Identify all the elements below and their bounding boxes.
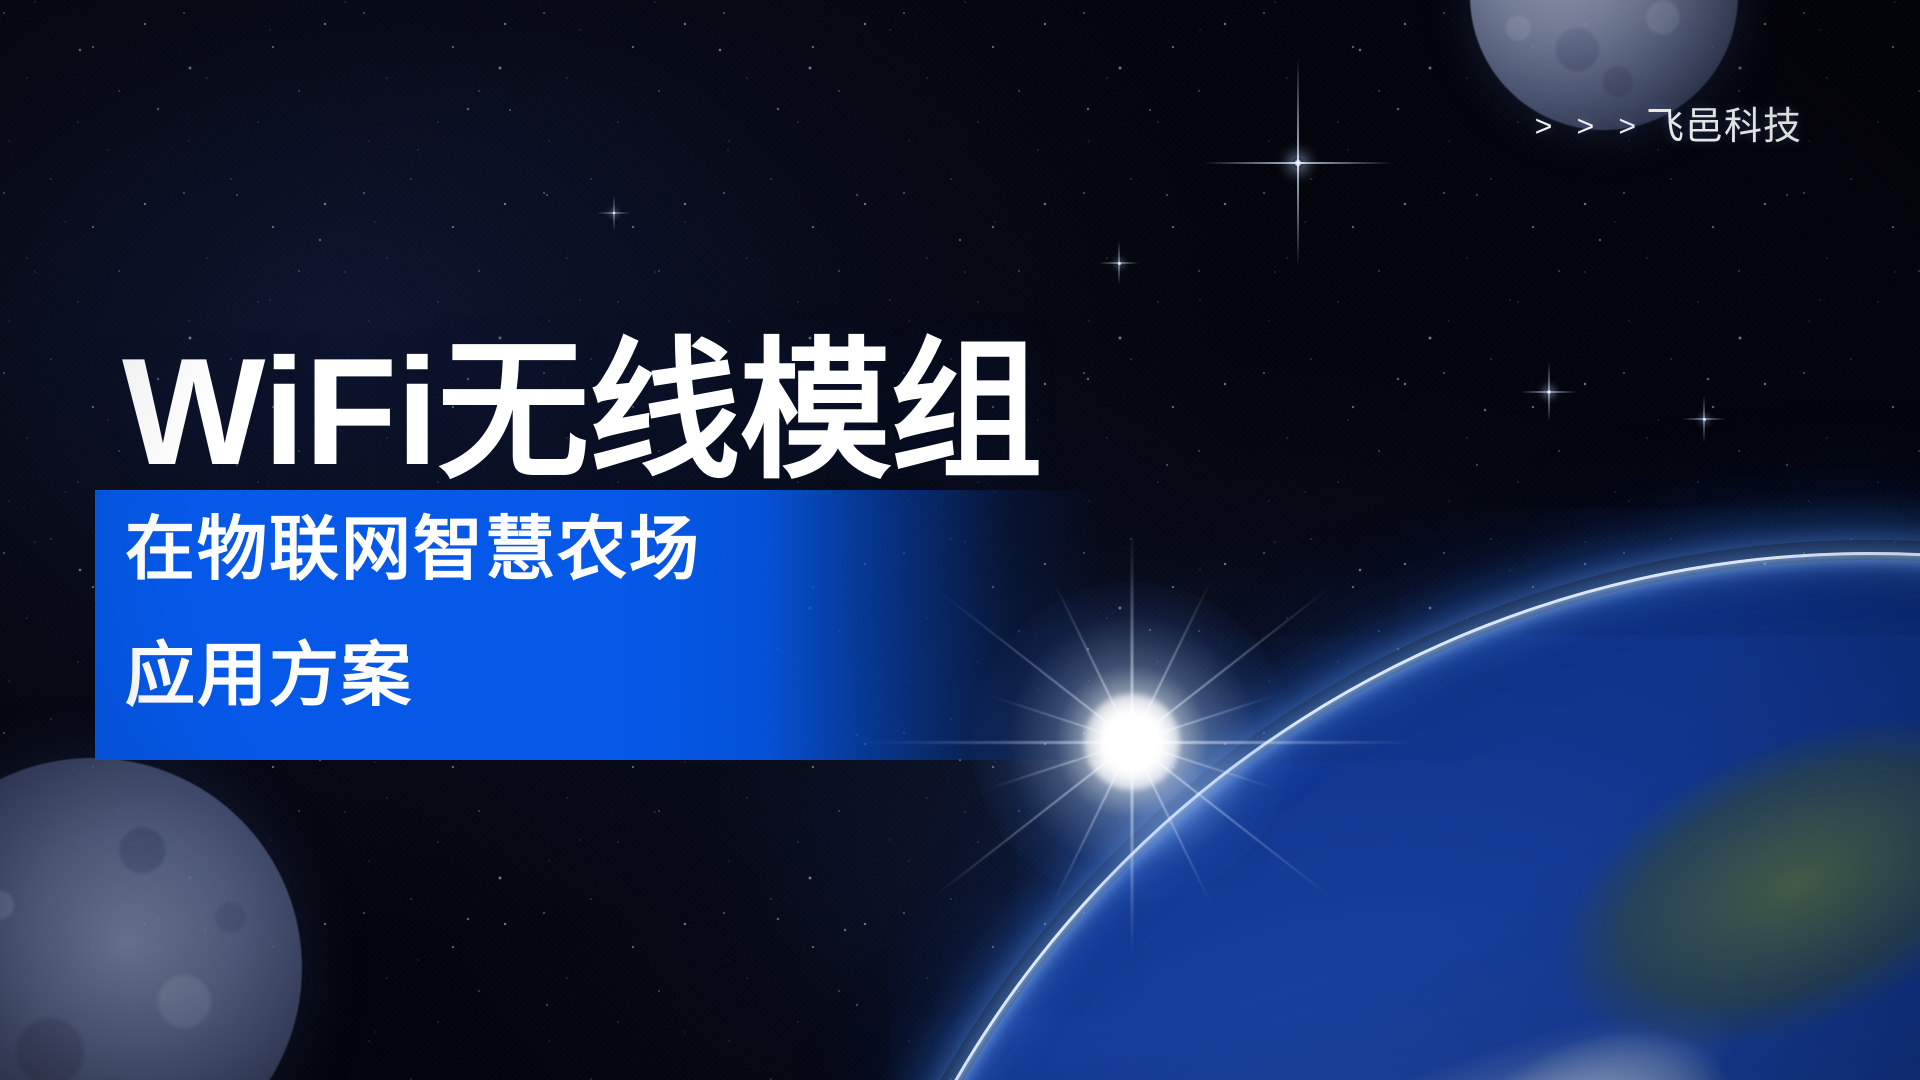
subtitle-line-2: 应用方案 <box>125 640 413 710</box>
hero-banner: > > > 飞邑科技 WiFi无线模组 在物联网智慧农场 应用方案 <box>0 0 1920 1080</box>
page-title: WiFi无线模组 <box>122 336 1041 488</box>
subtitle-panel: 在物联网智慧农场 应用方案 <box>95 490 1105 760</box>
brand-name: 飞邑科技 <box>1646 108 1802 146</box>
brand-logo[interactable]: > > > 飞邑科技 <box>1535 108 1802 146</box>
subtitle-line-1: 在物联网智慧农场 <box>125 514 701 584</box>
chevron-right-icon: > > > <box>1535 112 1644 142</box>
